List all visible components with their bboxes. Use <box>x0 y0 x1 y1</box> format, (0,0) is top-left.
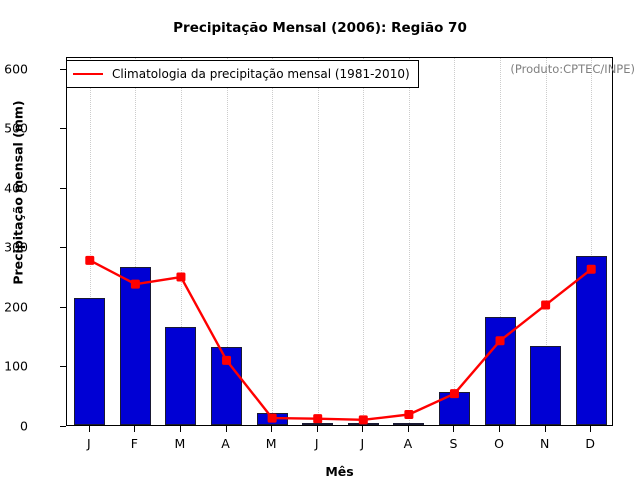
climatology-marker-J-0 <box>85 256 94 265</box>
chart-title: Precipitação Mensal (2006): Região 70 <box>0 20 640 36</box>
climatology-line-series <box>67 58 612 425</box>
climatology-marker-M-4 <box>268 414 277 423</box>
x-tick-mark-F-1 <box>134 426 135 432</box>
x-tick-label-F-1: F <box>114 436 154 451</box>
climatology-marker-A-3 <box>222 356 231 365</box>
climatology-marker-J-5 <box>313 414 322 423</box>
x-tick-mark-A-7 <box>408 426 409 432</box>
x-tick-mark-J-6 <box>362 426 363 432</box>
plot-inner <box>67 58 612 425</box>
y-axis-title: Precipitação mensal (mm) <box>11 23 26 363</box>
climatology-marker-A-7 <box>404 410 413 419</box>
x-tick-label-J-5: J <box>297 436 337 451</box>
x-tick-label-M-4: M <box>251 436 291 451</box>
x-tick-label-J-0: J <box>69 436 109 451</box>
climatology-polyline <box>90 260 591 420</box>
plot-area <box>66 57 613 426</box>
x-tick-label-S-8: S <box>433 436 473 451</box>
y-tick-mark-100 <box>60 366 66 367</box>
x-tick-mark-M-4 <box>271 426 272 432</box>
legend-label-climatology: Climatologia da precipitação mensal (198… <box>112 67 410 81</box>
x-tick-label-M-2: M <box>160 436 200 451</box>
climatology-marker-N-10 <box>541 300 550 309</box>
x-tick-label-N-10: N <box>525 436 565 451</box>
climatology-marker-J-6 <box>359 415 368 424</box>
producer-annotation: (Produto:CPTEC/INPE) <box>510 62 635 76</box>
y-tick-mark-200 <box>60 307 66 308</box>
legend: Climatologia da precipitação mensal (198… <box>66 60 419 88</box>
x-tick-mark-O-9 <box>499 426 500 432</box>
x-tick-mark-M-2 <box>180 426 181 432</box>
x-tick-label-D-11: D <box>570 436 610 451</box>
climatology-marker-D-11 <box>587 265 596 274</box>
x-tick-label-J-6: J <box>342 436 382 451</box>
climatology-marker-F-1 <box>131 280 140 289</box>
y-tick-label-0: 0 <box>0 419 28 434</box>
climatology-marker-S-8 <box>450 389 459 398</box>
y-tick-mark-500 <box>60 128 66 129</box>
legend-line-swatch <box>73 73 103 75</box>
x-tick-mark-D-11 <box>590 426 591 432</box>
x-tick-mark-S-8 <box>453 426 454 432</box>
x-tick-mark-J-0 <box>89 426 90 432</box>
x-tick-mark-A-3 <box>226 426 227 432</box>
x-tick-label-O-9: O <box>479 436 519 451</box>
x-tick-mark-J-5 <box>317 426 318 432</box>
x-tick-label-A-3: A <box>206 436 246 451</box>
y-tick-mark-300 <box>60 247 66 248</box>
chart-figure: Precipitação Mensal (2006): Região 70 01… <box>0 0 640 500</box>
x-tick-mark-N-10 <box>545 426 546 432</box>
y-tick-mark-0 <box>60 426 66 427</box>
y-tick-mark-400 <box>60 188 66 189</box>
x-tick-label-A-7: A <box>388 436 428 451</box>
x-axis-title: Mês <box>66 464 613 479</box>
climatology-marker-O-9 <box>496 336 505 345</box>
climatology-marker-M-2 <box>176 273 185 282</box>
